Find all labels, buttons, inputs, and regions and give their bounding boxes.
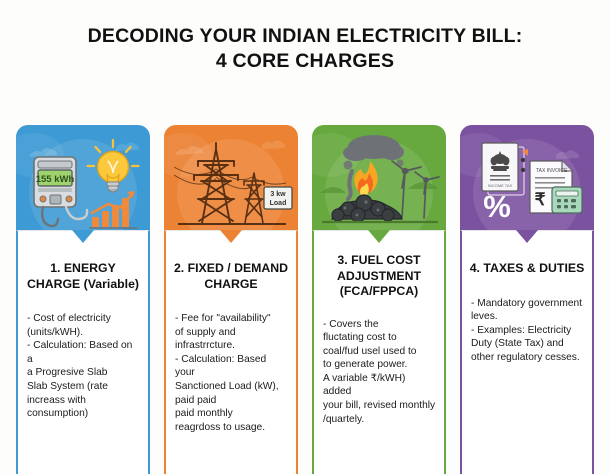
card-4-artwork: INCOME TAX TAX INVOICE ₹ [460, 125, 594, 247]
card-3-body: 3. FUEL COST ADJUSTMENT (FCA/FPPCA) - Co… [312, 230, 446, 474]
card-fixed-demand-charge[interactable]: 3 kw Load 2. FIXED / DEMAND CHARGE - Fee… [164, 125, 298, 474]
card-1-body: 1. ENERGY CHARGE (Variable) - Cost of el… [16, 230, 150, 474]
title-line-2: 4 CORE CHARGES [0, 49, 610, 74]
card-4-body: 4. TAXES & DUTIES - Mandatory government… [460, 230, 594, 474]
svg-text:3 kw: 3 kw [270, 191, 286, 198]
load-sign-icon: 3 kw Load [264, 187, 292, 209]
card-4-description: - Mandatory government leves. - Examples… [462, 277, 592, 365]
transmission-tower-icon [194, 143, 238, 223]
svg-text:Load: Load [270, 200, 287, 207]
percent-icon: % [483, 189, 511, 224]
page-title: DECODING YOUR INDIAN ELECTRICITY BILL: 4… [0, 24, 610, 74]
coal-pile-icon [332, 195, 402, 222]
card-4-notch [516, 230, 538, 243]
card-1-description: - Cost of electricity (units/kWH). - Cal… [18, 292, 148, 421]
card-energy-charge[interactable]: 155 kWh [16, 125, 150, 474]
svg-text:₹: ₹ [535, 190, 546, 209]
card-2-body: 2. FIXED / DEMAND CHARGE - Fee for "avai… [164, 230, 298, 474]
card-2-header: 3 kw Load [164, 125, 298, 247]
transmission-tower-icon [244, 173, 264, 223]
card-1-notch [72, 230, 94, 243]
card-1-header: 155 kWh [16, 125, 150, 247]
burning-coal-icon [354, 161, 377, 196]
card-3-description: - Covers the fluctating cost to coal/fud… [314, 300, 444, 427]
lightbulb-icon [88, 140, 139, 192]
svg-text:155 kWh: 155 kWh [36, 174, 75, 185]
card-2-description: - Fee for "availability" of supply and i… [166, 292, 296, 434]
svg-text:INCOME TAX: INCOME TAX [488, 183, 513, 188]
card-3-notch [368, 230, 390, 243]
card-3-artwork [312, 125, 446, 247]
card-2-notch [220, 230, 242, 243]
calculator-icon [552, 187, 582, 213]
card-2-artwork: 3 kw Load [164, 125, 298, 247]
government-emblem-document-icon: INCOME TAX [482, 143, 518, 191]
card-taxes-duties[interactable]: INCOME TAX TAX INVOICE ₹ [460, 125, 594, 474]
svg-text:TAX INVOICE: TAX INVOICE [536, 168, 568, 174]
electric-meter-icon: 155 kWh [34, 157, 87, 226]
card-4-header: INCOME TAX TAX INVOICE ₹ [460, 125, 594, 247]
title-line-1: DECODING YOUR INDIAN ELECTRICITY BILL: [0, 24, 610, 49]
card-3-header [312, 125, 446, 247]
card-fuel-cost-adjustment[interactable]: 3. FUEL COST ADJUSTMENT (FCA/FPPCA) - Co… [312, 125, 446, 474]
growth-bar-chart-icon [89, 191, 137, 228]
card-1-artwork: 155 kWh [16, 125, 150, 247]
cards-container: 155 kWh [0, 125, 610, 474]
wind-turbine-icon [392, 161, 439, 218]
